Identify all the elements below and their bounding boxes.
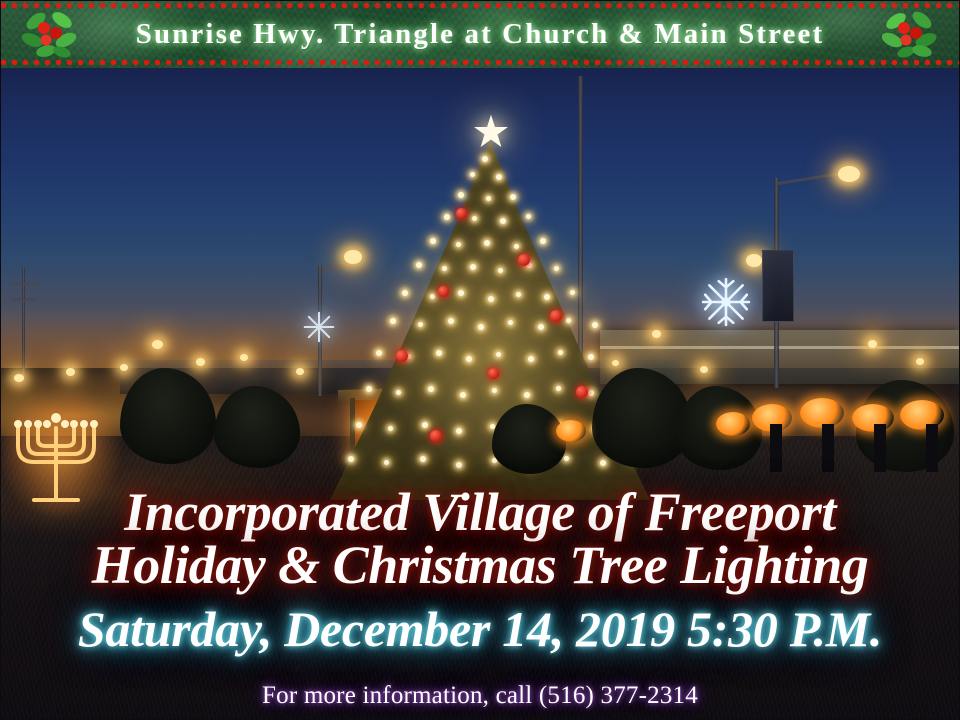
tree-light bbox=[366, 386, 372, 392]
foreground-post bbox=[822, 424, 834, 472]
utility-pole-arm bbox=[10, 282, 38, 285]
foreground-post bbox=[770, 424, 782, 472]
tree-light bbox=[566, 318, 571, 323]
tree-light bbox=[516, 292, 521, 297]
tree-light bbox=[430, 294, 435, 299]
decorative-light-cluster bbox=[852, 404, 894, 432]
tree-light bbox=[564, 456, 569, 461]
tree-light bbox=[458, 192, 464, 198]
event-dateline: Saturday, December 14, 2019 5:30 P.M. bbox=[0, 600, 960, 658]
tree-light bbox=[540, 238, 546, 244]
tree-light bbox=[418, 322, 423, 327]
tree-light bbox=[478, 324, 484, 330]
tree-light bbox=[456, 462, 462, 468]
tree-light bbox=[420, 456, 426, 462]
tree-light bbox=[348, 456, 354, 462]
tree-light bbox=[538, 324, 544, 330]
overpass-railing bbox=[600, 346, 960, 349]
tree-light bbox=[508, 320, 513, 325]
street-lamp bbox=[838, 166, 860, 182]
tree-light bbox=[456, 428, 462, 434]
foreground-post bbox=[874, 424, 886, 472]
street-lamp bbox=[152, 340, 163, 349]
street-lamp bbox=[196, 358, 205, 366]
tree-light bbox=[544, 294, 550, 300]
decorative-light-cluster bbox=[716, 412, 750, 436]
tree-light bbox=[558, 350, 563, 355]
tree-light bbox=[588, 354, 594, 360]
tree-light bbox=[456, 242, 461, 247]
headline-line-2: Holiday & Christmas Tree Lighting bbox=[0, 534, 960, 596]
tree-light bbox=[498, 268, 503, 273]
tree-ornament bbox=[438, 286, 449, 297]
tree-light bbox=[470, 172, 475, 177]
tree-light bbox=[600, 460, 606, 466]
tree-ornament bbox=[396, 350, 408, 362]
tree-light bbox=[524, 392, 530, 398]
tree-light bbox=[570, 290, 575, 295]
tree-light bbox=[448, 318, 454, 324]
tree-light bbox=[422, 422, 428, 428]
tree-light bbox=[444, 214, 450, 220]
tree-light bbox=[496, 352, 501, 357]
tree-light bbox=[356, 422, 362, 428]
street-lamp bbox=[652, 330, 661, 338]
tree-light bbox=[482, 156, 488, 162]
tree-light bbox=[466, 356, 472, 362]
tree-light bbox=[488, 296, 494, 302]
tree-light bbox=[436, 350, 442, 356]
contact-info: For more information, call (516) 377-231… bbox=[0, 682, 960, 710]
snowflake-icon bbox=[700, 276, 752, 328]
tree-ornament bbox=[456, 208, 467, 219]
decorative-light-cluster bbox=[556, 420, 586, 442]
tree-light bbox=[500, 218, 506, 224]
tree-light bbox=[470, 264, 476, 270]
tree-light bbox=[460, 392, 466, 398]
street-lamp bbox=[296, 368, 304, 375]
tree-light bbox=[484, 240, 490, 246]
tree-light bbox=[496, 174, 502, 180]
street-lamp bbox=[746, 254, 762, 267]
tree-light bbox=[458, 290, 464, 296]
tree-light bbox=[442, 266, 447, 271]
star-icon bbox=[473, 114, 509, 150]
tree-light bbox=[428, 386, 434, 392]
utility-pole-arm bbox=[12, 298, 36, 301]
tree-light bbox=[388, 426, 393, 431]
tree-light bbox=[472, 216, 477, 221]
tree-light bbox=[416, 262, 422, 268]
foreground-post bbox=[926, 424, 938, 472]
street-lamp bbox=[916, 358, 924, 365]
street-lamp bbox=[868, 340, 877, 348]
tree-ornament bbox=[488, 368, 499, 379]
tree-light bbox=[486, 196, 491, 201]
tree-ornament bbox=[576, 386, 588, 398]
tree-light bbox=[556, 386, 561, 391]
tree-light bbox=[430, 238, 436, 244]
tree-light bbox=[402, 290, 408, 296]
tree-light bbox=[510, 194, 516, 200]
pole-banner-sign bbox=[762, 250, 794, 322]
tree-ornament bbox=[550, 310, 562, 322]
holly-icon bbox=[882, 7, 938, 61]
tree-light bbox=[376, 350, 382, 356]
holly-icon bbox=[22, 7, 78, 61]
street-lamp bbox=[700, 366, 708, 373]
tree-light bbox=[528, 356, 534, 362]
tree-ornament bbox=[430, 430, 442, 442]
tree-ornament bbox=[518, 254, 530, 266]
tree-light bbox=[554, 266, 559, 271]
banner-location-text: Sunrise Hwy. Triangle at Church & Main S… bbox=[0, 0, 960, 68]
tree-light bbox=[526, 214, 531, 219]
tree-light bbox=[588, 390, 594, 396]
street-lamp bbox=[240, 354, 248, 361]
event-flyer: Incorporated Village of Freeport Holiday… bbox=[0, 0, 960, 720]
tree-light bbox=[492, 388, 497, 393]
tree-light bbox=[390, 318, 396, 324]
tree-light bbox=[592, 322, 598, 328]
tree-light bbox=[396, 390, 401, 395]
tree-light bbox=[514, 244, 519, 249]
tree-light bbox=[384, 460, 389, 465]
